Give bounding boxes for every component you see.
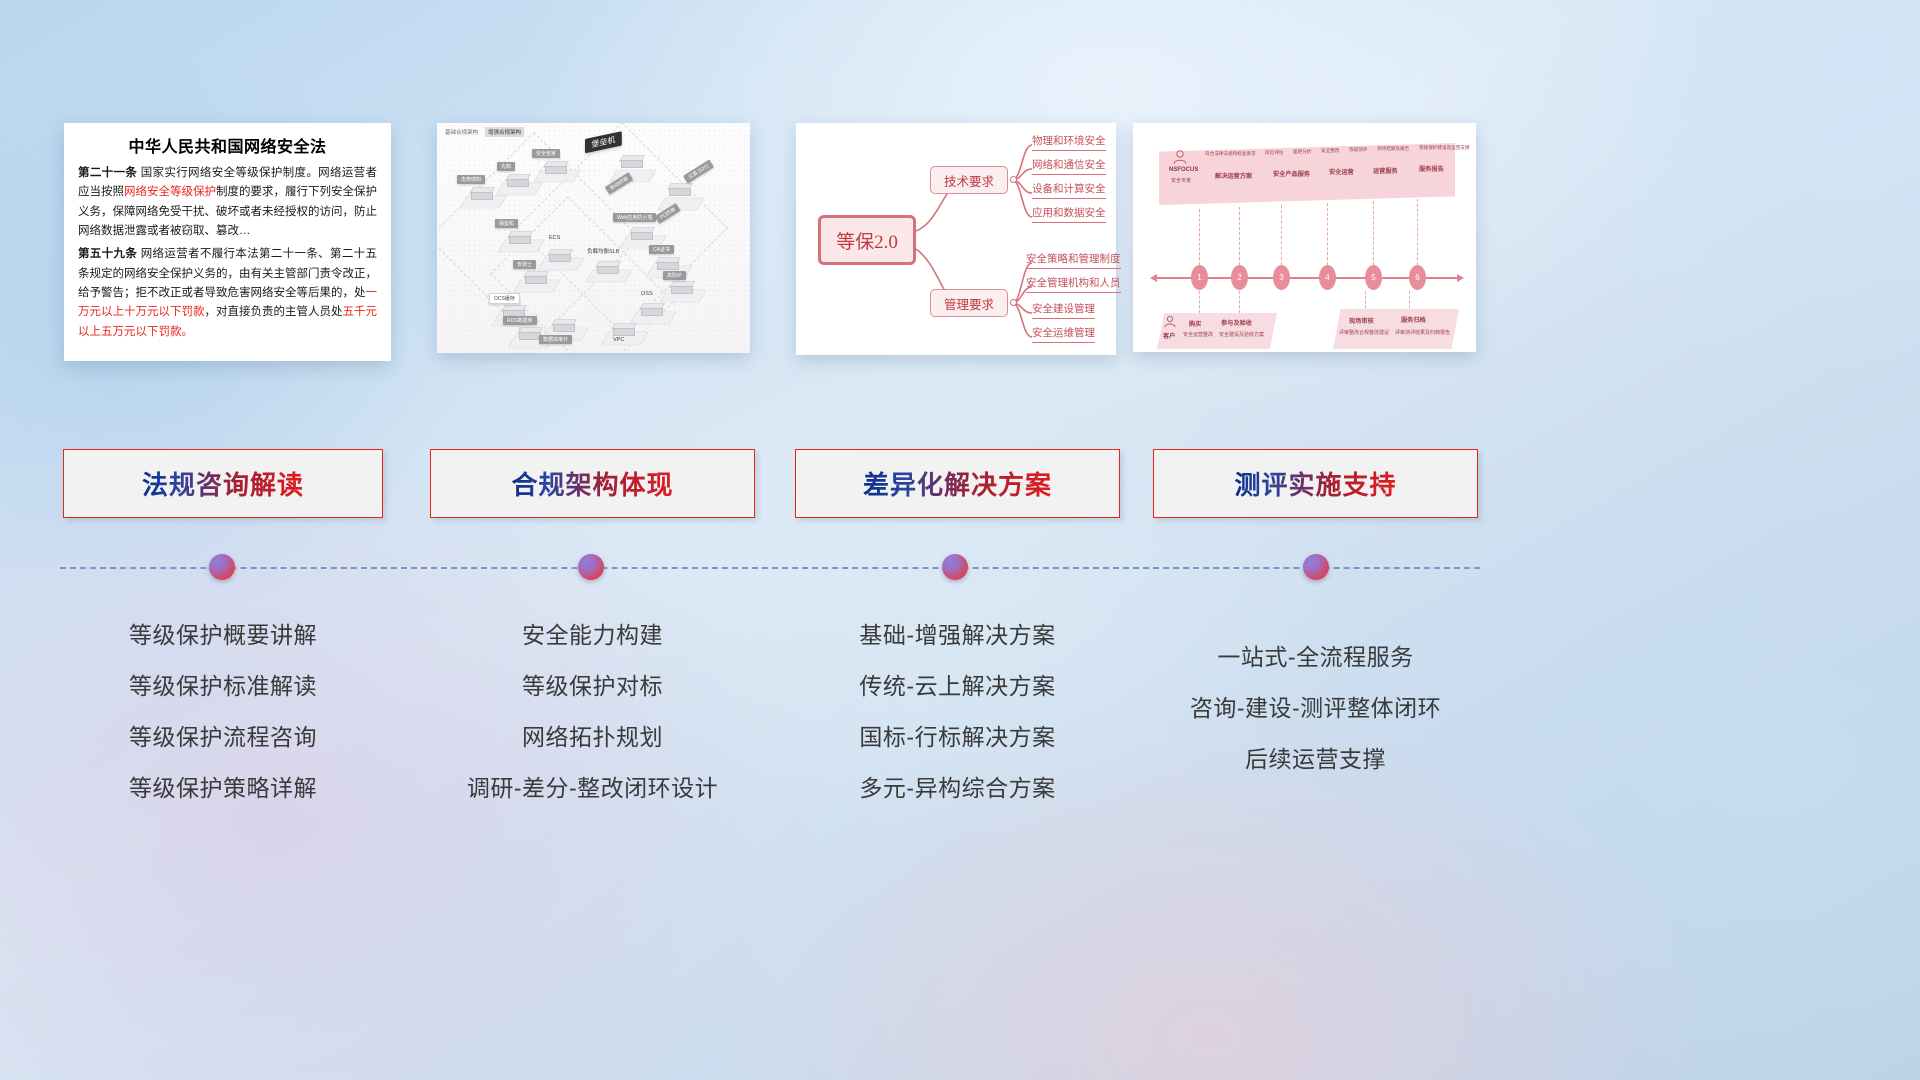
mindmap-root-node[interactable]: 等保2.0	[818, 215, 916, 265]
roadmap-heading: 服务报告	[1419, 164, 1444, 173]
list-item: 多元-异构综合方案	[795, 763, 1120, 814]
list-item: 国标-行标解决方案	[795, 712, 1120, 763]
list-item: 基础-增强解决方案	[795, 610, 1120, 661]
customer-person-icon	[1163, 315, 1177, 329]
roadmap-heading: 解决运营方案	[1215, 171, 1252, 180]
roadmap-connector	[1239, 207, 1240, 265]
law-article-59: 第五十九条 网络运营者不履行本法第二十一条、第二十五条规定的网络安全保护义务的，…	[78, 245, 377, 342]
node-chip-anqishi: 安骑士	[513, 260, 536, 269]
list-item: 传统-云上解决方案	[795, 661, 1120, 712]
iso-cube-situational	[469, 185, 495, 203]
roadmap-banner-tag: 等级保护建设及运营支撑	[1419, 145, 1470, 151]
iso-cube-security-butler	[543, 159, 569, 177]
detail-list-2: 安全能力构建 等级保护对标 网络拓扑规划 调研-差分-整改闭环设计	[430, 610, 755, 814]
detail-list-3: 基础-增强解决方案 传统-云上解决方案 国标-行标解决方案 多元-异构综合方案	[795, 610, 1120, 814]
iso-cube-bastion	[507, 229, 533, 247]
node-chip-security-butler: 安全管家	[532, 149, 560, 158]
roadmap-heading: 运营服务	[1373, 166, 1398, 175]
article-59-label: 第五十九条	[78, 248, 137, 260]
roadmap-customer-label: 客户	[1163, 331, 1175, 340]
mindmap-branch-management[interactable]: 管理要求	[930, 289, 1008, 317]
thumbnail-card-row: 中华人民共和国网络安全法 第二十一条 国家实行网络安全等级保护制度。网络运营者应…	[0, 123, 1920, 363]
roadmap-connector	[1373, 201, 1374, 265]
node-label-oss: OSS	[641, 291, 653, 297]
architecture-diagram: 基础合规架构 增强合规架构 态势感知 先知 安全管家 堡垒机 保垒机 EC	[437, 123, 750, 353]
roadmap-bottom-sub: 安全建设及验收方案	[1219, 331, 1264, 338]
roadmap-connector	[1327, 203, 1328, 265]
roadmap-connector	[1239, 291, 1240, 313]
article-21-label: 第二十一条	[78, 167, 137, 179]
iso-plate	[657, 198, 704, 211]
roadmap-connector	[1199, 209, 1200, 265]
roadmap-connector	[1281, 205, 1282, 265]
roadmap-bottom-sub: 安全运营整改	[1183, 331, 1213, 338]
node-chip-anti-ddos: 高防IP	[663, 271, 686, 280]
roadmap-bottom-tag: 参与及验收	[1221, 318, 1252, 327]
roadmap-bottom-tag: 购买	[1189, 319, 1201, 328]
list-item: 等级保护对标	[430, 661, 755, 712]
node-chip-bastion: 保垒机	[495, 219, 518, 228]
roadmap-banner-tag: 安全整改	[1321, 148, 1339, 154]
list-item: 等级保护概要讲解	[63, 610, 383, 661]
list-item: 咨询-建设-测评整体闭环	[1153, 683, 1478, 734]
law-article-21: 第二十一条 国家实行网络安全等级保护制度。网络运营者应当按照网络安全等级保护制度…	[78, 164, 377, 241]
mindmap-leaf: 安全策略和管理制度	[1026, 251, 1121, 269]
roadmap-step[interactable]: 5	[1365, 265, 1382, 290]
card-dengbao-mindmap[interactable]: 等保2.0 技术要求 管理要求 物理和环境安全 网络和通信安全 设备和计算安全 …	[796, 123, 1116, 355]
card-service-roadmap[interactable]: NSFOCUS 安全专家 符合法律法规和标准要求 风险评估 差距分析 安全整改 …	[1133, 123, 1476, 352]
roadmap-brand: NSFOCUS	[1169, 167, 1198, 173]
card-compliance-architecture[interactable]: 基础合规架构 增强合规架构 态势感知 先知 安全管家 堡垒机 保垒机 EC	[437, 123, 750, 353]
roadmap-step[interactable]: 1	[1191, 265, 1208, 290]
mindmap-collapse-knob-management[interactable]	[1010, 299, 1017, 306]
roadmap-banner-tag: 风险评估	[1265, 150, 1283, 156]
roadmap-banner-tag: 等级测评	[1349, 147, 1367, 153]
section-title-label: 合规架构体现	[511, 465, 673, 502]
roadmap-step[interactable]: 6	[1409, 265, 1426, 290]
list-item: 一站式-全流程服务	[1153, 632, 1478, 683]
article-59-text-2: ，对直接负责的主管人员处	[205, 306, 343, 318]
node-chip-db-audit: 数据库审计	[539, 335, 572, 344]
roadmap-brand-sub: 安全专家	[1171, 177, 1191, 184]
iso-cube-ecs	[547, 247, 573, 265]
node-chip-ocs: OCS缓存	[489, 293, 520, 304]
section-title-box-2[interactable]: 合规架构体现	[430, 449, 755, 518]
timeline-dot-1[interactable]	[209, 554, 235, 580]
mindmap-leaf: 应用和数据安全	[1032, 205, 1106, 223]
tab-enhanced-architecture[interactable]: 增强合规架构	[485, 127, 524, 137]
section-title-box-4[interactable]: 测评实施支持	[1153, 449, 1478, 518]
list-item: 调研-差分-整改闭环设计	[430, 763, 755, 814]
node-label-slb: 负载均衡SLB	[587, 247, 619, 255]
roadmap-heading: 安全产品服务	[1273, 169, 1310, 178]
section-title-label: 法规咨询解读	[142, 465, 304, 502]
mindmap: 等保2.0 技术要求 管理要求 物理和环境安全 网络和通信安全 设备和计算安全 …	[796, 123, 1116, 355]
iso-cube-oss	[639, 301, 665, 319]
roadmap-step[interactable]: 2	[1231, 265, 1248, 290]
roadmap-connector	[1199, 291, 1200, 313]
iso-cube-waf	[629, 225, 655, 243]
detail-list-1: 等级保护概要讲解 等级保护标准解读 等级保护流程咨询 等级保护策略详解	[63, 610, 383, 814]
roadmap-connector	[1417, 199, 1418, 265]
mindmap-collapse-knob-technical[interactable]	[1010, 176, 1017, 183]
roadmap-bottom-tag: 服务归档	[1401, 315, 1426, 324]
timeline-rail	[60, 567, 1480, 569]
section-title-row: 法规咨询解读 合规架构体现 差异化解决方案 测评实施支持	[0, 449, 1920, 519]
list-item: 后续运营支撑	[1153, 734, 1478, 785]
section-title-label: 差异化解决方案	[863, 465, 1052, 502]
section-title-label: 测评实施支持	[1234, 465, 1396, 502]
roadmap-banner-tag: 符合法律法规和标准要求	[1205, 151, 1256, 157]
mindmap-leaf: 设备和计算安全	[1032, 181, 1106, 199]
section-title-box-1[interactable]: 法规咨询解读	[63, 449, 383, 518]
timeline-dot-3[interactable]	[942, 554, 968, 580]
timeline-dot-2[interactable]	[578, 554, 604, 580]
roadmap-banner-tag: 测评结果及报告	[1377, 146, 1409, 152]
iso-cube-slb	[595, 259, 621, 277]
iso-cube-db-audit	[551, 317, 577, 335]
roadmap-bottom-sub: 评审整改合规整改建议	[1339, 329, 1389, 336]
card-cybersecurity-law[interactable]: 中华人民共和国网络安全法 第二十一条 国家实行网络安全等级保护制度。网络运营者应…	[64, 123, 391, 361]
section-title-box-3[interactable]: 差异化解决方案	[795, 449, 1120, 518]
mindmap-leaf: 安全管理机构和人员	[1026, 275, 1121, 293]
node-chip-ca: CA证书	[649, 245, 674, 254]
node-chip-rds: RDS数据库	[503, 316, 537, 325]
tab-basic-architecture[interactable]: 基础合规架构	[442, 127, 481, 137]
iso-cube-anqishi	[523, 269, 549, 287]
iso-cube-pc	[667, 181, 693, 199]
iso-cube-mobile	[619, 153, 645, 171]
roadmap-bottom-tag: 现场审核	[1349, 316, 1374, 325]
node-chip-xianzhi: 先知	[497, 162, 515, 171]
list-item: 等级保护策略详解	[63, 763, 383, 814]
law-title: 中华人民共和国网络安全法	[78, 133, 377, 157]
node-chip-waf: Web应用防火墙	[613, 213, 656, 222]
node-chip-situational: 态势感知	[457, 175, 485, 184]
list-item: 等级保护标准解读	[63, 661, 383, 712]
roadmap-diagram: NSFOCUS 安全专家 符合法律法规和标准要求 风险评估 差距分析 安全整改 …	[1133, 123, 1476, 352]
mindmap-leaf: 安全运维管理	[1032, 325, 1095, 343]
iso-cube-xianzhi	[505, 172, 531, 190]
article-21-highlight: 网络安全等级保护	[124, 186, 216, 198]
mindmap-leaf: 物理和环境安全	[1032, 133, 1106, 151]
roadmap-step[interactable]: 3	[1273, 265, 1290, 290]
detail-list-4: 一站式-全流程服务 咨询-建设-测评整体闭环 后续运营支撑	[1153, 632, 1478, 785]
architecture-tabs[interactable]: 基础合规架构 增强合规架构	[442, 127, 524, 137]
mindmap-leaf: 网络和通信安全	[1032, 157, 1106, 175]
list-item: 等级保护流程咨询	[63, 712, 383, 763]
roadmap-step[interactable]: 4	[1319, 265, 1336, 290]
timeline-dot-4[interactable]	[1303, 554, 1329, 580]
mindmap-branch-technical[interactable]: 技术要求	[930, 166, 1008, 194]
roadmap-banner-tag: 差距分析	[1293, 149, 1311, 155]
mindmap-leaf: 安全建设管理	[1032, 301, 1095, 319]
roadmap-heading: 安全运营	[1329, 167, 1354, 176]
node-label-ecs: ECS	[549, 235, 560, 241]
timeline	[60, 567, 1480, 569]
list-item: 安全能力构建	[430, 610, 755, 661]
expert-person-icon	[1171, 149, 1189, 167]
iso-cube-anti-ddos	[669, 279, 695, 297]
node-label-vpc: VPC	[613, 337, 624, 343]
list-item: 网络拓扑规划	[430, 712, 755, 763]
roadmap-bottom-sub: 评审测评结果及归档报告	[1395, 329, 1450, 336]
